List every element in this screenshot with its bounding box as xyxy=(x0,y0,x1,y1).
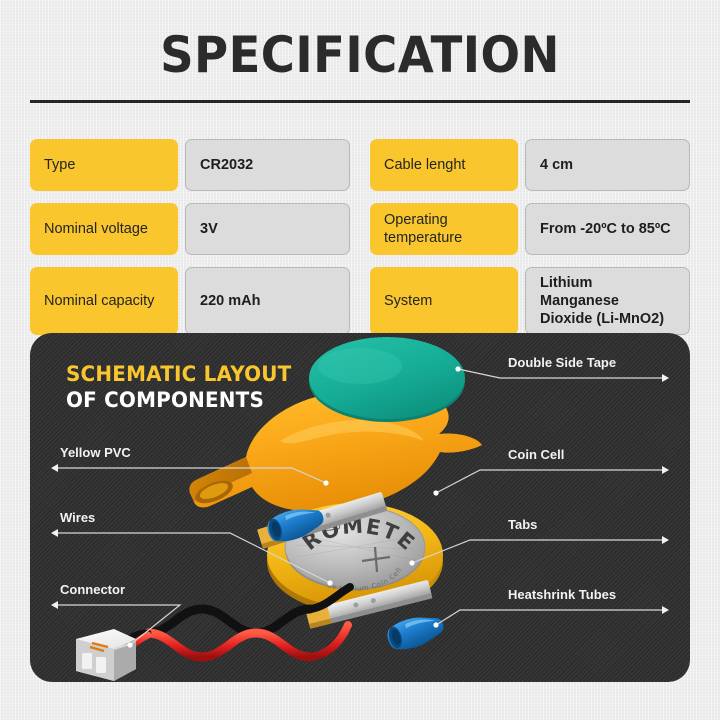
spec-key: Nominal capacity xyxy=(30,267,178,335)
title-divider xyxy=(30,100,690,103)
exploded-view-illustration: ROMETECH 3v Lithium Coin Cell xyxy=(30,333,690,682)
spec-value: CR2032 xyxy=(185,139,350,191)
table-row: Cable lenght 4 cm xyxy=(370,139,690,191)
spec-value: Lithium Manganese Dioxide (Li-MnO2) xyxy=(525,267,690,335)
table-row: Type CR2032 xyxy=(30,139,350,191)
spec-key: Type xyxy=(30,139,178,191)
heatshrink-tube-lower-part xyxy=(384,610,447,654)
spec-key: System xyxy=(370,267,518,335)
specification-page: SPECIFICATION Type CR2032 Cable lenght 4… xyxy=(0,0,720,720)
spec-value: 4 cm xyxy=(525,139,690,191)
schematic-panel: SCHEMATIC LAYOUT OF COMPONENTS xyxy=(30,333,690,682)
spec-value: 220 mAh xyxy=(185,267,350,335)
page-title: SPECIFICATION xyxy=(25,26,695,84)
table-row: Nominal capacity 220 mAh xyxy=(30,267,350,335)
spec-value: 3V xyxy=(185,203,350,255)
table-row: Operating temperature From -20ºC to 85ºC xyxy=(370,203,690,255)
specification-table: Type CR2032 Cable lenght 4 cm Nominal vo… xyxy=(30,139,690,335)
table-row: Nominal voltage 3V xyxy=(30,203,350,255)
double-side-tape-part xyxy=(309,337,465,422)
spec-key: Cable lenght xyxy=(370,139,518,191)
spec-key: Nominal voltage xyxy=(30,203,178,255)
table-row: System Lithium Manganese Dioxide (Li-MnO… xyxy=(370,267,690,335)
spec-value: From -20ºC to 85ºC xyxy=(525,203,690,255)
spec-key: Operating temperature xyxy=(370,203,518,255)
connector-part xyxy=(76,629,136,681)
